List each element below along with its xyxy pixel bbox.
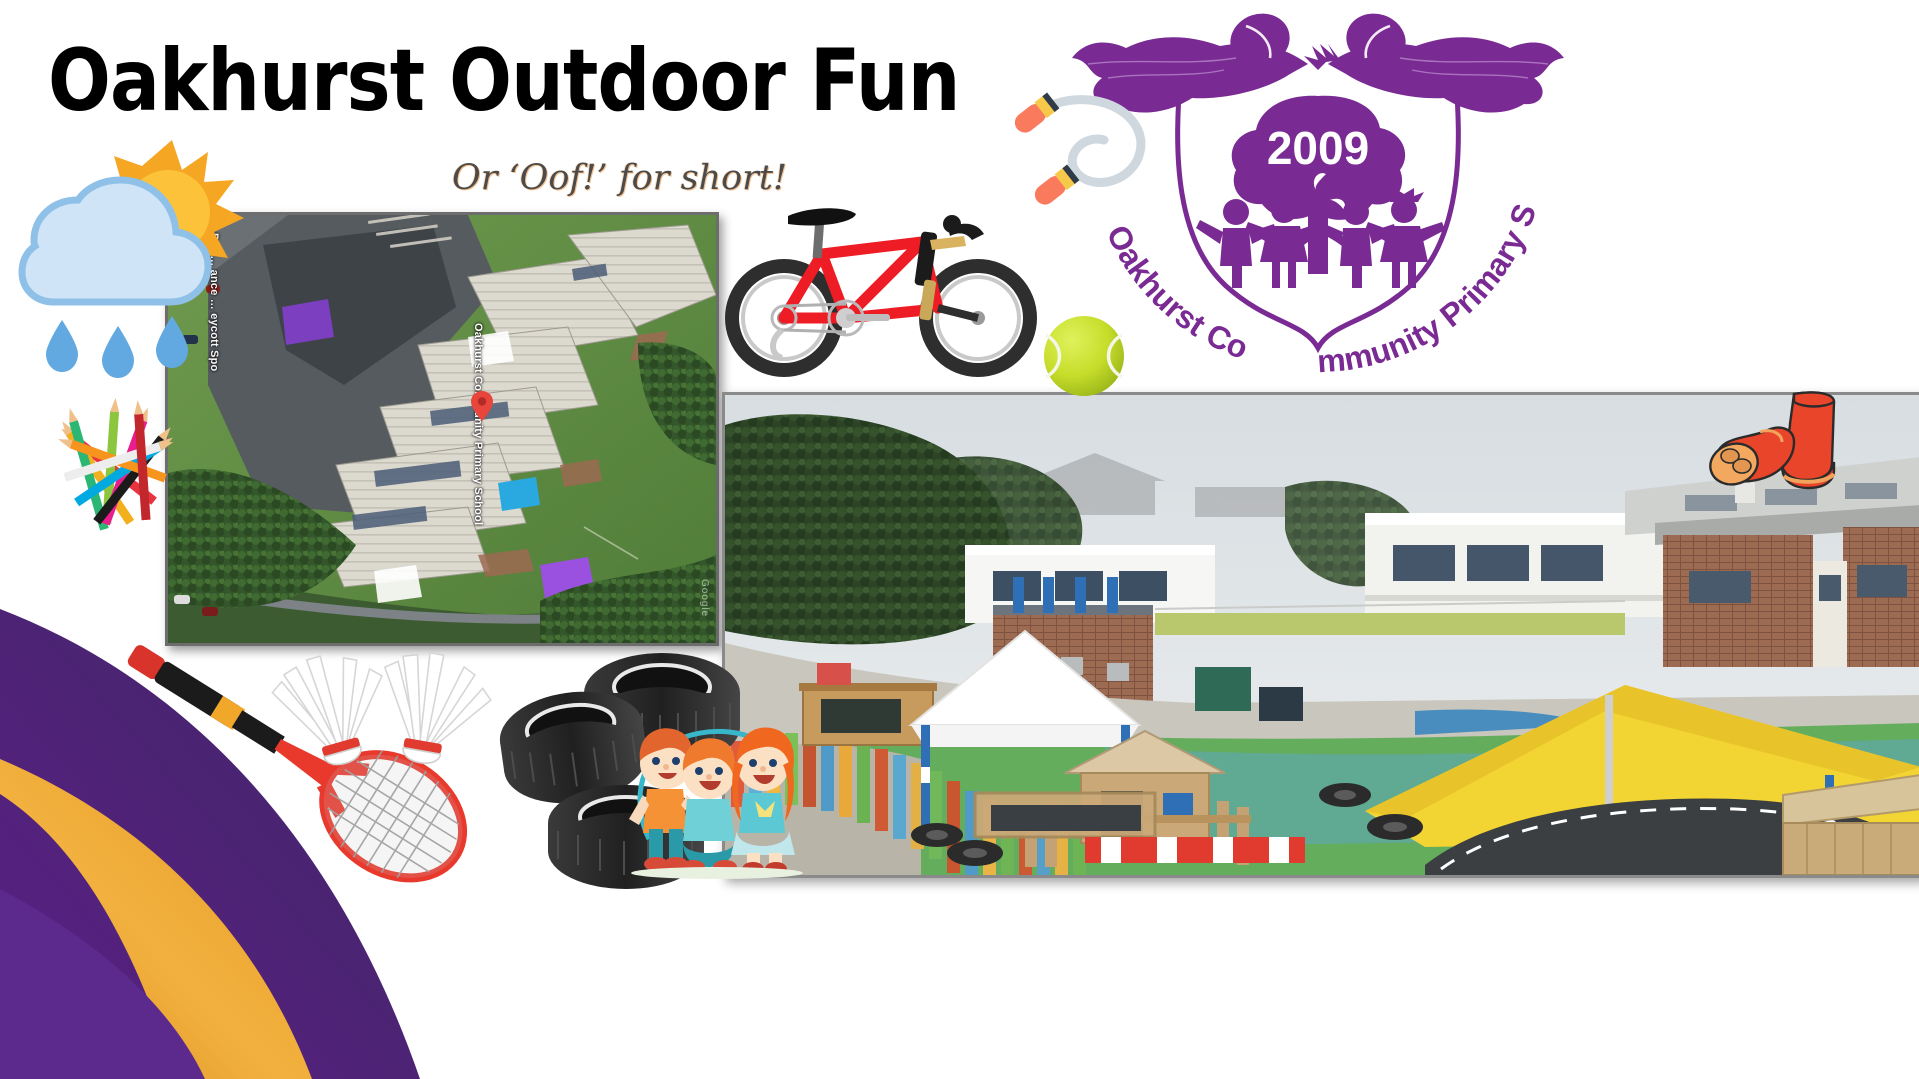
wellington-boots-icon	[1706, 388, 1856, 508]
sun-behind-rain-cloud-icon	[22, 130, 282, 380]
red-bicycle-icon	[726, 198, 1036, 378]
logo-year: 2009	[1267, 122, 1369, 174]
three-children-icon	[625, 715, 815, 877]
tennis-ball-icon	[1036, 315, 1132, 397]
map-attribution: Google	[699, 579, 710, 617]
page-title: Oakhurst Outdoor Fun	[48, 36, 959, 126]
shuttlecocks-icon	[255, 640, 495, 770]
page-subtitle: Or ‘Oof!’ for short!	[452, 158, 787, 198]
coloured-pencils-icon	[50, 410, 180, 530]
skipping-rope-icon	[1000, 78, 1160, 218]
map-pin-icon	[471, 391, 493, 421]
map-place-label: Oakhurst Community Primary School	[472, 323, 484, 525]
slide-canvas: Oakhurst Outdoor Fun Or ‘Oof!’ for short…	[0, 0, 1919, 1079]
